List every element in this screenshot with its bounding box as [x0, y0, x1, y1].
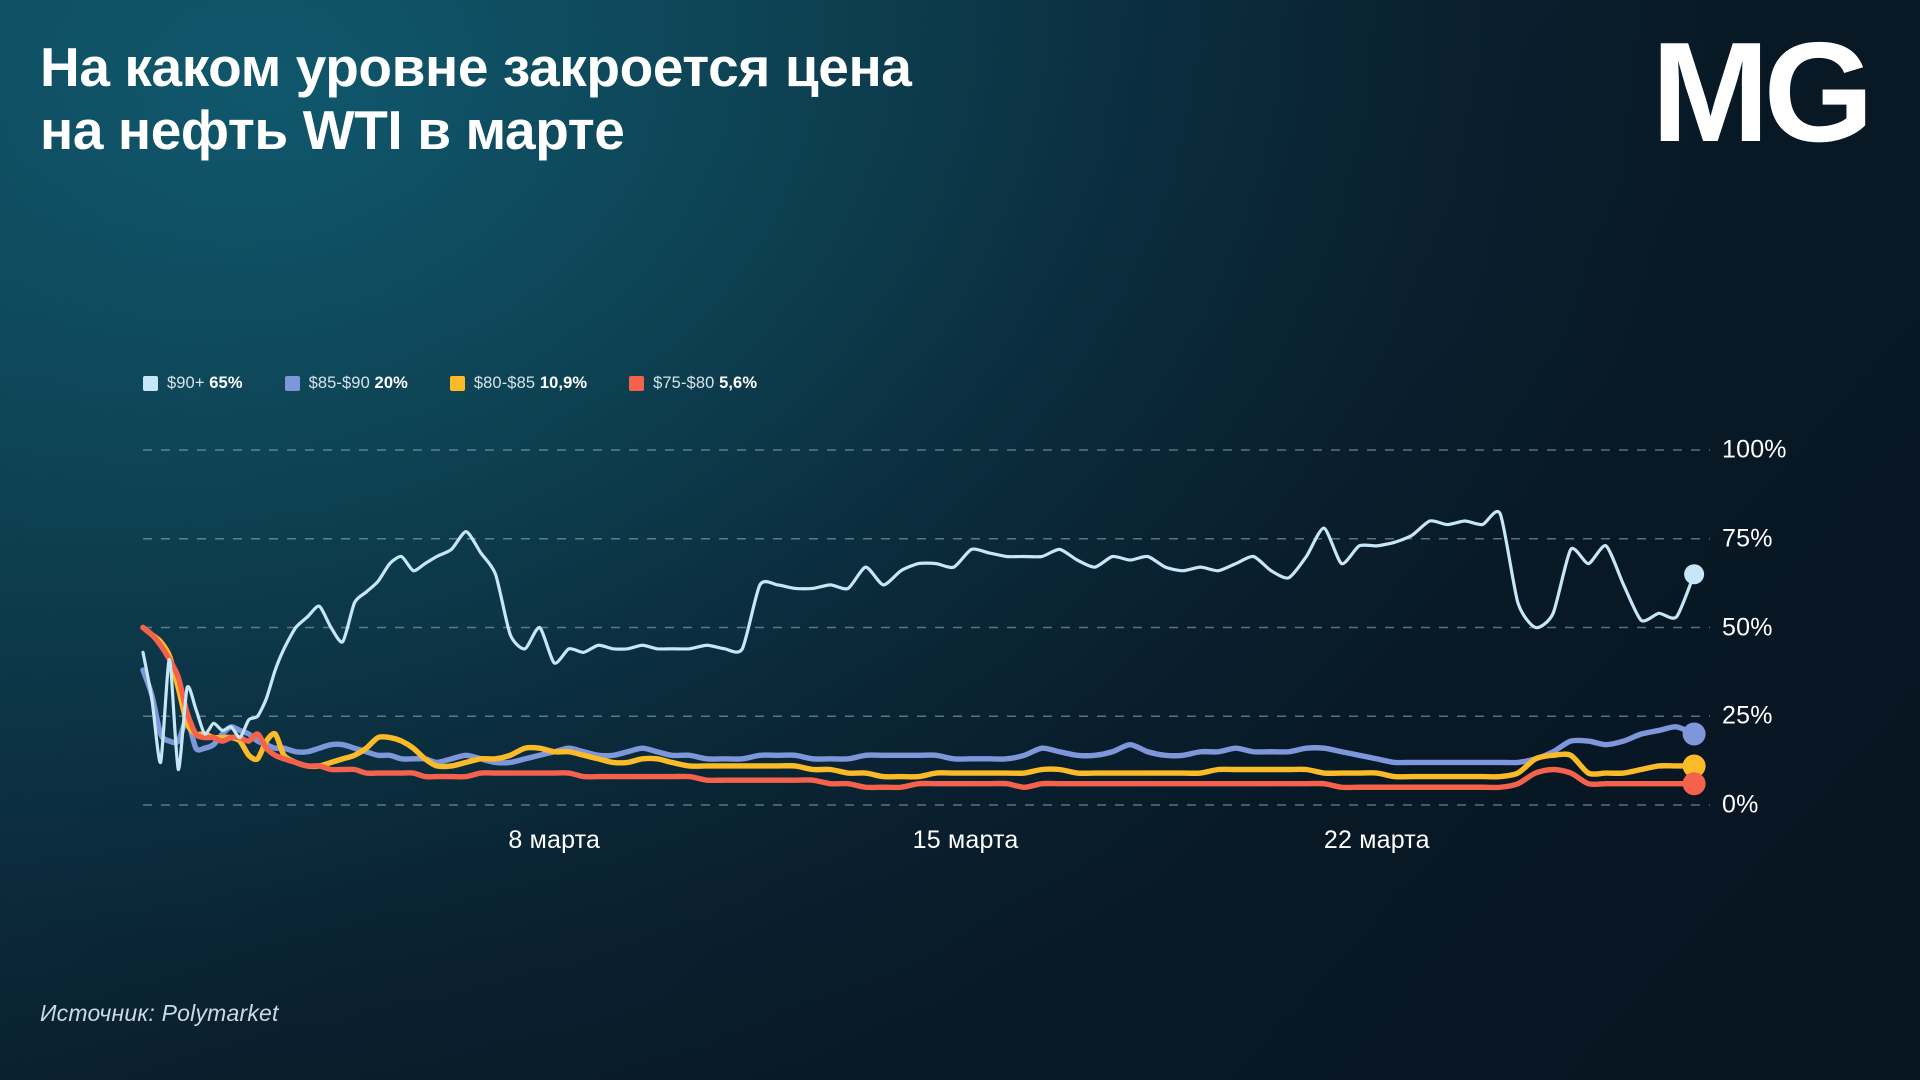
x-axis-tick: 22 марта	[1324, 826, 1430, 855]
source-note: Источник: Polymarket	[40, 1000, 279, 1027]
x-axis-tick: 15 марта	[913, 826, 1019, 855]
x-axis-tick: 8 марта	[508, 826, 600, 855]
x-axis-labels: 8 марта15 марта22 марта	[0, 0, 1920, 1080]
